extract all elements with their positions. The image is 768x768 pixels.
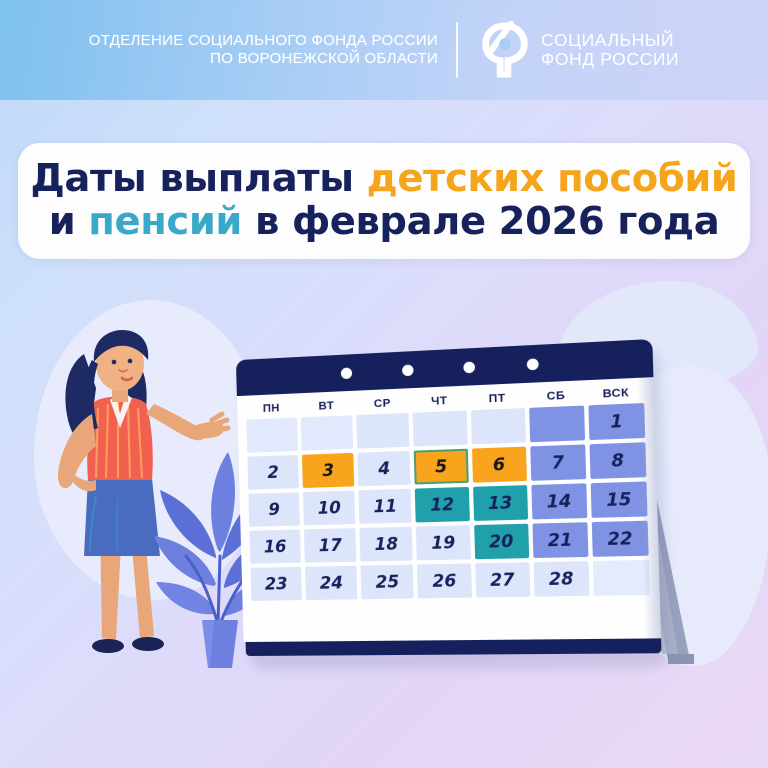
calendar-day-11[interactable]: 11 (359, 489, 412, 524)
weekday-label-пн: ПН (246, 401, 297, 415)
logo-line-1: СОЦИАЛЬНЫЙ (541, 31, 679, 50)
logo-line-2: ФОНД РОССИИ (541, 50, 679, 69)
calendar-day-20[interactable]: 20 (474, 524, 529, 560)
calendar-day-28[interactable]: 28 (533, 561, 589, 597)
calendar-day-14[interactable]: 14 (531, 483, 587, 519)
title-part-month-year: в феврале 2026 года (242, 199, 719, 244)
calendar-day-19[interactable]: 19 (416, 525, 470, 560)
calendar-day-empty (301, 415, 353, 450)
calendar-day-24[interactable]: 24 (305, 566, 357, 600)
title-part-and: и (49, 199, 89, 244)
calendar-day-empty (357, 413, 410, 449)
sfr-monogram-icon (476, 21, 534, 79)
calendar-bottom-band (246, 638, 662, 656)
calendar-day-6[interactable]: 6 (472, 447, 527, 483)
calendar-body: ПНВТСРЧТПТСБВСК 123456789101112131415161… (237, 377, 661, 642)
weekday-label-пт: ПТ (470, 391, 524, 406)
weekday-label-чт: ЧТ (413, 394, 467, 409)
weekday-label-вск: ВСК (588, 386, 644, 401)
calendar-day-18[interactable]: 18 (360, 527, 413, 562)
calendar-day-10[interactable]: 10 (303, 490, 355, 525)
sfr-logo: СОЦИАЛЬНЫЙ ФОНД РОССИИ (476, 21, 679, 79)
title-part-child-benefits: детских пособий (367, 156, 738, 201)
calendar-binder-dot (464, 361, 476, 373)
calendar-day-empty (470, 408, 525, 444)
poster-root: ОТДЕЛЕНИЕ СОЦИАЛЬНОГО ФОНДА РОССИИ ПО ВО… (0, 0, 768, 768)
sfr-logo-text: СОЦИАЛЬНЫЙ ФОНД РОССИИ (541, 31, 679, 70)
calendar-day-1[interactable]: 1 (588, 403, 645, 440)
calendar-day-15[interactable]: 15 (590, 481, 647, 517)
calendar-day-empty (593, 560, 650, 596)
weekday-label-сб: СБ (528, 389, 583, 404)
calendar-day-3[interactable]: 3 (302, 453, 354, 488)
calendar-day-25[interactable]: 25 (361, 565, 414, 600)
calendar-day-16[interactable]: 16 (249, 529, 301, 563)
calendar-day-17[interactable]: 17 (304, 528, 356, 563)
calendar-day-13[interactable]: 13 (473, 485, 528, 521)
title-part-pensions: пенсий (88, 199, 242, 244)
calendar-week-row: 16171819202122 (249, 521, 648, 564)
calendar-day-23[interactable]: 23 (250, 567, 302, 601)
calendar-week-row: 9101112131415 (248, 481, 647, 526)
weekday-label-вт: ВТ (301, 399, 353, 413)
calendar-day-9[interactable]: 9 (248, 492, 300, 527)
calendar-day-26[interactable]: 26 (417, 563, 471, 598)
org-line-1: ОТДЕЛЕНИЕ СОЦИАЛЬНОГО ФОНДА РОССИИ (89, 32, 438, 50)
calendar-day-21[interactable]: 21 (532, 522, 588, 558)
title-part-dates: Даты выплаты (31, 156, 367, 201)
calendar-day-27[interactable]: 27 (475, 562, 530, 597)
calendar-day-7[interactable]: 7 (530, 444, 586, 480)
calendar-day-empty (529, 406, 585, 443)
calendar-day-5[interactable]: 5 (414, 449, 468, 485)
calendar-week-row: 232425262728 (250, 560, 649, 601)
calendar-day-22[interactable]: 22 (592, 521, 649, 557)
weekday-label-ср: СР (356, 396, 409, 411)
header-banner: ОТДЕЛЕНИЕ СОЦИАЛЬНОГО ФОНДА РОССИИ ПО ВО… (0, 0, 768, 100)
calendar-binder-dot (527, 358, 539, 370)
calendar-day-4[interactable]: 4 (358, 451, 411, 486)
calendar-grid: 1234567891011121314151617181920212223242… (246, 403, 649, 601)
calendar-day-empty (246, 418, 298, 453)
calendar-widget: ПНВТСРЧТПТСБВСК 123456789101112131415161… (236, 339, 662, 660)
header-divider (456, 22, 458, 78)
calendar-binder-dot (402, 364, 414, 376)
org-line-2: ПО ВОРОНЕЖСКОЙ ОБЛАСТИ (89, 50, 438, 68)
title-plate: Даты выплаты детских пособий и пенсий в … (18, 143, 750, 259)
calendar-day-2[interactable]: 2 (247, 455, 299, 490)
title-line-1: Даты выплаты детских пособий (28, 157, 740, 200)
title-line-2: и пенсий в феврале 2026 года (28, 200, 740, 243)
calendar-day-empty (413, 410, 467, 446)
calendar-day-12[interactable]: 12 (415, 487, 469, 522)
calendar-day-8[interactable]: 8 (589, 442, 646, 479)
calendar-binder-dot (341, 367, 352, 379)
organization-name: ОТДЕЛЕНИЕ СОЦИАЛЬНОГО ФОНДА РОССИИ ПО ВО… (89, 32, 438, 68)
